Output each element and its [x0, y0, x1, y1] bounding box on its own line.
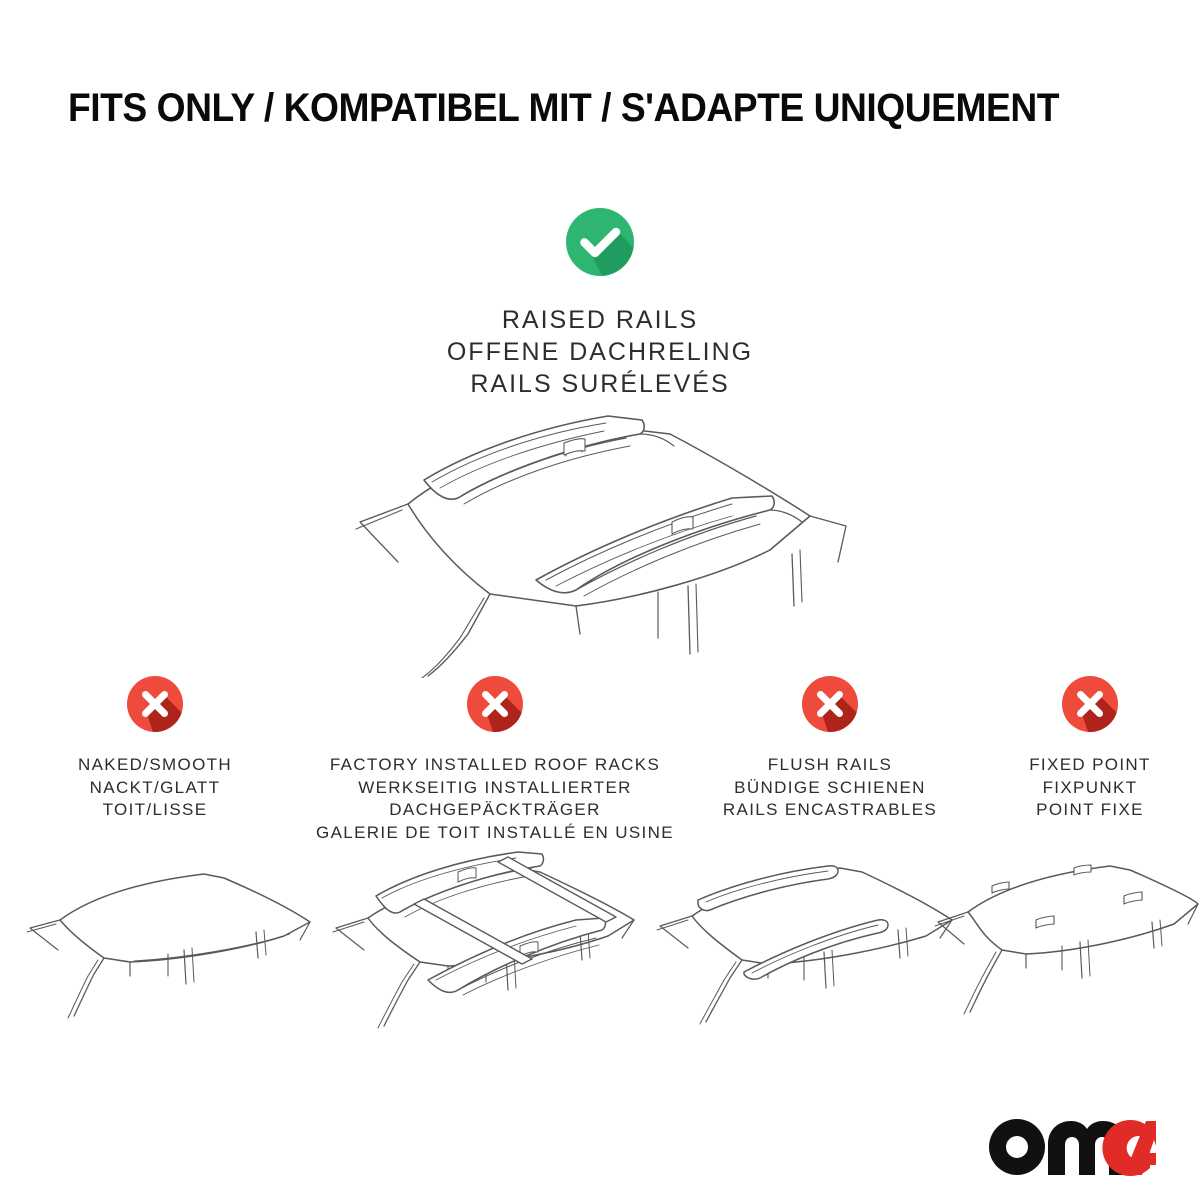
compatible-labels: RAISED RAILS OFFENE DACHRELING RAILS SUR…	[447, 304, 753, 400]
incompatible-label-fr: POINT FIXE	[1029, 799, 1151, 822]
incompatible-label-de: BÜNDIGE SCHIENEN	[723, 777, 937, 800]
incompatible-label-fr: TOIT/LISSE	[78, 799, 232, 822]
incompatible-label-en: FLUSH RAILS	[723, 754, 937, 777]
incompatible-item-fixed-point: FIXED POINT FIXPUNKT POINT FIXE	[980, 676, 1200, 822]
incompatible-item-naked-smooth: NAKED/SMOOTH NACKT/GLATT TOIT/LISSE	[0, 676, 310, 822]
page-title: FITS ONLY / KOMPATIBEL MIT / S'ADAPTE UN…	[68, 86, 1072, 131]
compatible-label-de: OFFENE DACHRELING	[447, 336, 753, 368]
incompatible-item-factory-racks: FACTORY INSTALLED ROOF RACKS WERKSEITIG …	[310, 676, 680, 844]
incompatible-label-en: NAKED/SMOOTH	[78, 754, 232, 777]
car-roof-raised-rails-illustration	[340, 398, 860, 678]
incompatible-label-de: FIXPUNKT	[1029, 777, 1151, 800]
incompatible-section: NAKED/SMOOTH NACKT/GLATT TOIT/LISSE	[0, 676, 1200, 844]
car-roof-flush-rails-illustration	[648, 854, 958, 1049]
cross-circle-icon	[127, 676, 183, 732]
incompatible-labels: FIXED POINT FIXPUNKT POINT FIXE	[1029, 754, 1151, 822]
omac-logo	[988, 1118, 1156, 1176]
incompatible-labels: NAKED/SMOOTH NACKT/GLATT TOIT/LISSE	[78, 754, 232, 822]
incompatible-label-en: FACTORY INSTALLED ROOF RACKS	[316, 754, 674, 777]
cross-circle-icon	[802, 676, 858, 732]
compatible-label-en: RAISED RAILS	[447, 304, 753, 336]
incompatible-labels: FLUSH RAILS BÜNDIGE SCHIENEN RAILS ENCAS…	[723, 754, 937, 822]
incompatible-item-flush-rails: FLUSH RAILS BÜNDIGE SCHIENEN RAILS ENCAS…	[680, 676, 980, 822]
car-roof-fixed-point-illustration	[930, 854, 1200, 1049]
car-roof-factory-racks-illustration	[308, 846, 653, 1046]
check-circle-icon	[566, 208, 634, 276]
logo-letter-o	[989, 1119, 1045, 1175]
incompatible-labels: FACTORY INSTALLED ROOF RACKS WERKSEITIG …	[316, 754, 674, 844]
compatible-section: RAISED RAILS OFFENE DACHRELING RAILS SUR…	[0, 208, 1200, 400]
cross-circle-icon	[1062, 676, 1118, 732]
cross-circle-icon	[467, 676, 523, 732]
car-roof-naked-smooth-illustration	[18, 858, 318, 1048]
compatible-label-fr: RAILS SURÉLEVÉS	[447, 368, 753, 400]
infographic-page: FITS ONLY / KOMPATIBEL MIT / S'ADAPTE UN…	[0, 0, 1200, 1200]
incompatible-label-fr: RAILS ENCASTRABLES	[723, 799, 937, 822]
incompatible-label-en: FIXED POINT	[1029, 754, 1151, 777]
incompatible-label-de-1: WERKSEITIG INSTALLIERTER	[316, 777, 674, 800]
incompatible-label-de: NACKT/GLATT	[78, 777, 232, 800]
incompatible-label-de-2: DACHGEPÄCKTRÄGER	[316, 799, 674, 822]
illustration-row	[0, 840, 1200, 1060]
